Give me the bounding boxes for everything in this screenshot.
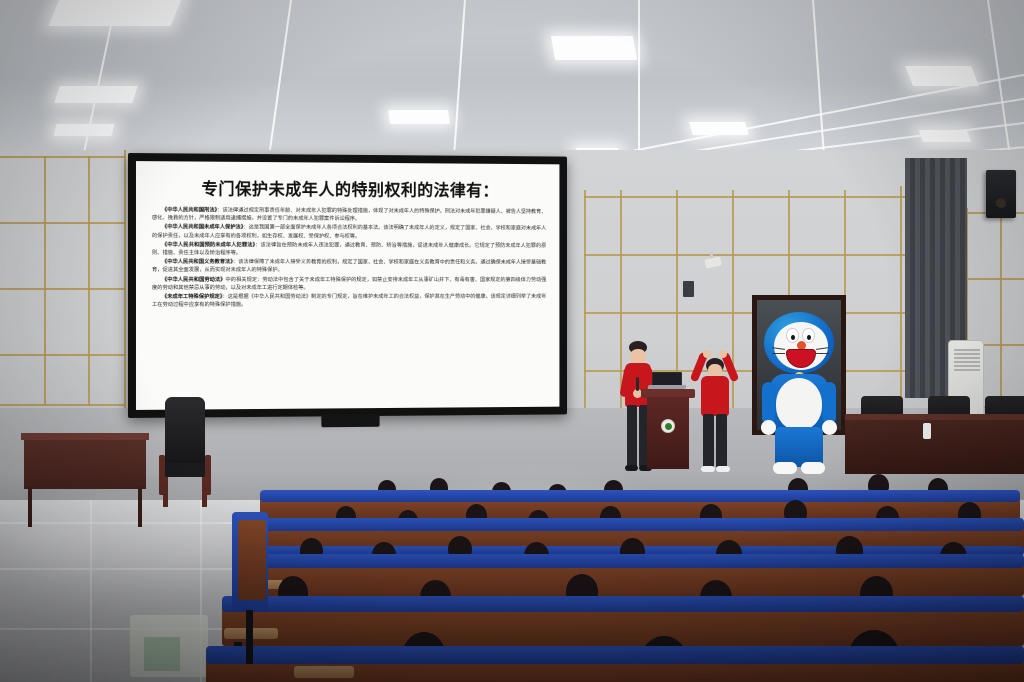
ceiling-light [551,36,637,60]
law-name: 《中华人民共和国劳动法》 [162,277,226,283]
lecture-hall-photo: 专门保护未成年人的特别权利的法律有： 《中华人民共和国刑法》：该法律通过规定刑事… [0,0,1024,682]
slide-surface: 专门保护未成年人的特别权利的法律有： 《中华人民共和国刑法》：该法律通过规定刑事… [136,161,559,410]
laptop [648,372,684,390]
slide-paragraph: 《未成年工特殊保护规定》：这是根据《中华人民共和国劳动法》制定的专门规定，旨在维… [152,293,546,310]
slide-paragraph: 《中华人民共和国劳动法》中的相关规定：劳动法中包含了关于未成年工特殊保护的规定，… [152,276,546,292]
slide-title: 专门保护未成年人的特别权利的法律有： [152,175,546,201]
ceiling-light [689,122,749,135]
ceiling-light [53,124,114,136]
water-bottle [923,423,931,439]
loudspeaker-icon [986,170,1016,218]
law-name: 《中华人民共和国预防未成年人犯罪法》 [162,242,255,248]
law-name: 《中华人民共和国刑法》 [162,207,217,213]
projection-screen: 专门保护未成年人的特别权利的法律有： 《中华人民共和国刑法》：该法律通过规定刑事… [128,153,567,418]
screen-mount [321,414,379,427]
law-name: 《未成年工特殊保护规定》 [162,294,223,300]
slide-paragraph: 《中华人民共和国未成年人保护法》：这是我国第一部全面保护未成年人各项合法权利的基… [152,223,546,241]
audience-seating [0,460,1024,682]
lectern [645,389,691,469]
slide-content: 专门保护未成年人的特别权利的法律有： 《中华人民共和国刑法》：该法律通过规定刑事… [136,161,559,316]
presenter-right [694,350,736,474]
slide-paragraph: 《中华人民共和国预防未成年人犯罪法》：该法律旨在预防未成年人违法犯罪，通过教育、… [152,241,546,258]
ceiling-light [388,110,449,124]
law-name: 《中华人民共和国义务教育法》 [162,259,233,265]
ceiling-light [905,66,979,86]
ceiling-light [54,86,138,103]
wall-device-icon [683,281,694,297]
ceiling-light [918,130,971,142]
slide-paragraph: 《中华人民共和国义务教育法》：该法律保障了未成年人接受义务教育的权利，规定了国家… [152,258,546,275]
doraemon-mascot [762,312,836,477]
microphone-icon [636,377,639,391]
mascot-mouth-icon [786,349,816,368]
mascot-head [764,312,834,374]
school-emblem-icon [661,419,675,433]
slide-paragraph: 《中华人民共和国刑法》：该法律通过规定刑事责任年龄、对未成年人犯罪的特殊处理措施… [152,206,546,224]
ceiling-light [48,0,183,26]
law-name: 《中华人民共和国未成年人保护法》 [162,225,244,231]
